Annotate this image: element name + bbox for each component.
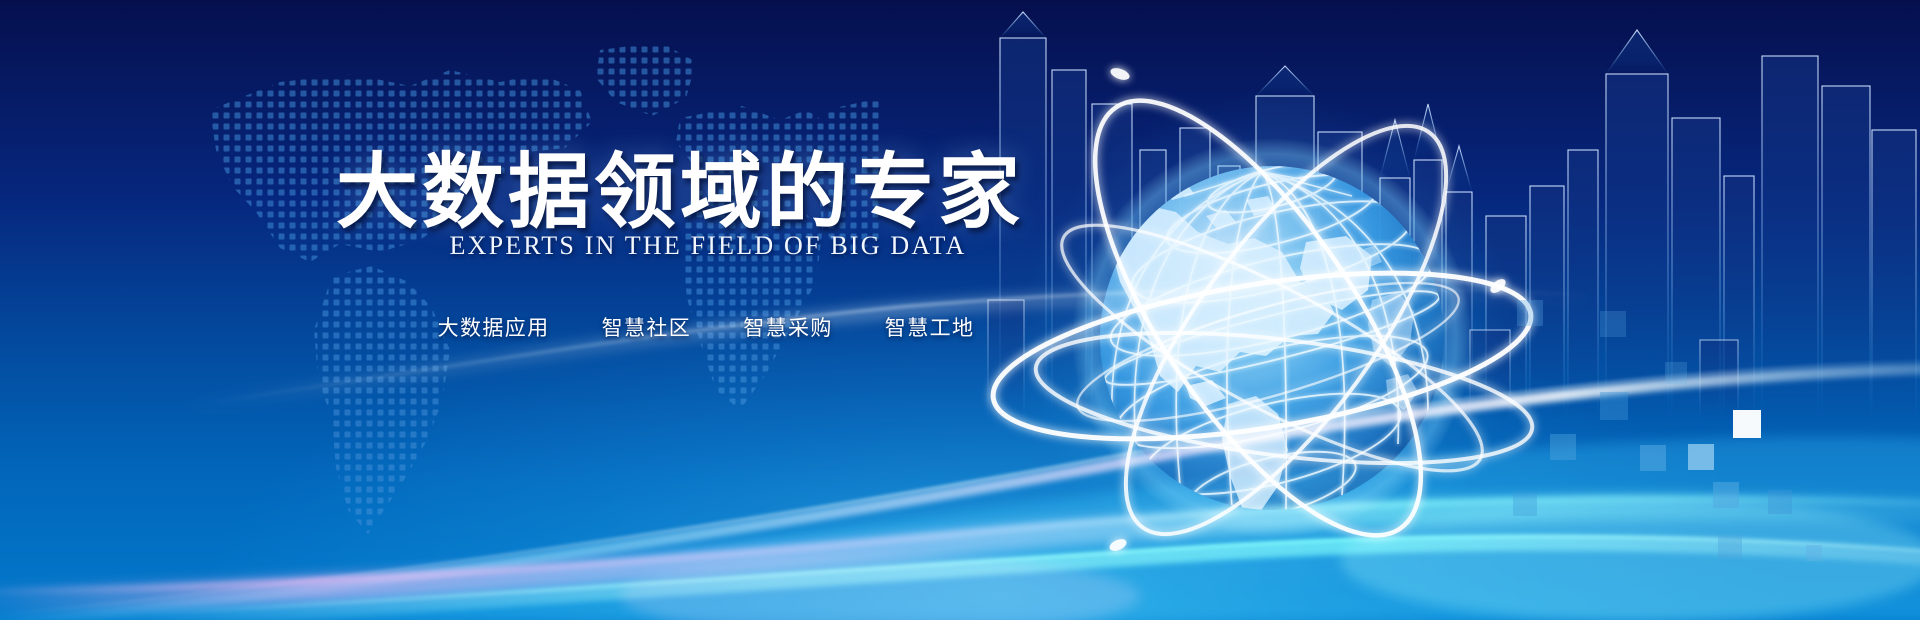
decor-square-2 (1665, 362, 1687, 384)
decor-square-3 (1600, 392, 1628, 420)
decor-square-1 (1600, 311, 1626, 337)
hero-banner: 大数据领域的专家 EXPERTS IN THE FIELD OF BIG DAT… (0, 0, 1920, 620)
decor-square-11 (1718, 535, 1742, 559)
nav-item-1[interactable]: 智慧社区 (602, 312, 692, 342)
decor-square-10 (1513, 492, 1537, 516)
decor-square-5 (1550, 434, 1576, 460)
page-title: 大数据领域的专家 (336, 152, 1076, 234)
decor-square-7 (1688, 444, 1714, 470)
decor-square-0 (1517, 300, 1543, 326)
decor-square-6 (1640, 445, 1666, 471)
decor-square-9 (1768, 490, 1792, 514)
nav-item-2[interactable]: 智慧采购 (743, 312, 833, 342)
decor-square-8 (1713, 482, 1739, 508)
nav-item-3[interactable]: 智慧工地 (885, 312, 975, 342)
nav-item-0[interactable]: 大数据应用 (438, 312, 550, 342)
decor-square-12 (1806, 545, 1822, 561)
decor-square-4 (1733, 410, 1761, 438)
banner-nav: 大数据应用智慧社区智慧采购智慧工地 (336, 312, 1076, 342)
page-subtitle: EXPERTS IN THE FIELD OF BIG DATA (338, 231, 1078, 261)
banner-copy: 大数据领域的专家 EXPERTS IN THE FIELD OF BIG DAT… (0, 0, 1080, 620)
